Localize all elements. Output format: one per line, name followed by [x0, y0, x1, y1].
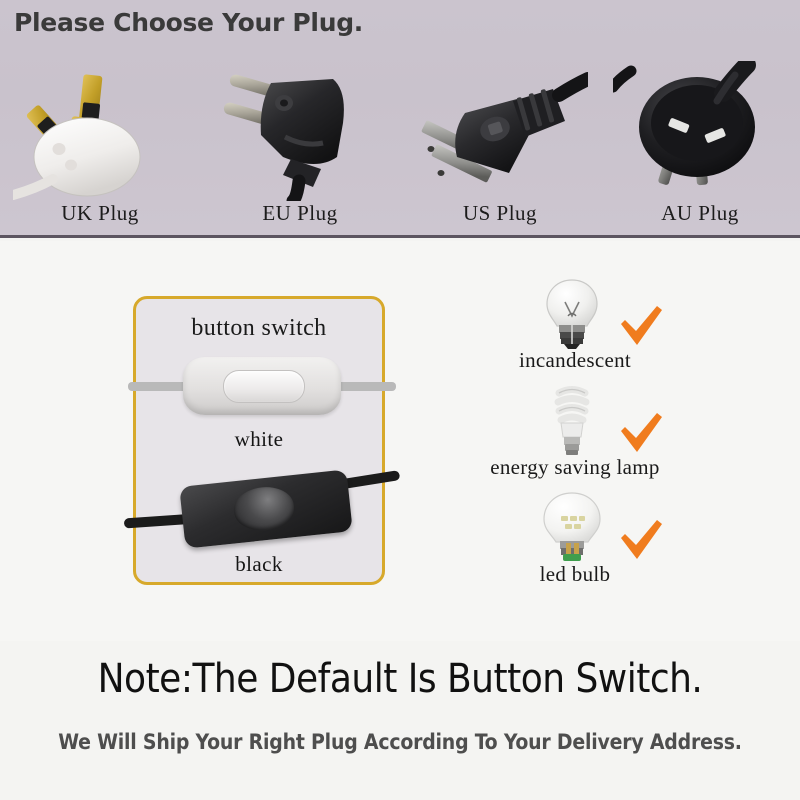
switch-option-label-black: black	[136, 552, 382, 577]
black-switch-button	[232, 484, 296, 533]
plug-option-uk[interactable]: UK Plug	[0, 52, 200, 238]
check-icon	[618, 304, 664, 348]
product-infographic: Please Choose Your Plug.	[0, 0, 800, 800]
shipping-note: We Will Ship Your Right Plug According T…	[0, 730, 800, 754]
plug-option-us[interactable]: US Plug	[400, 52, 600, 238]
us-plug-icon	[413, 61, 588, 201]
check-icon	[618, 518, 664, 562]
button-switch-title: button switch	[136, 315, 382, 342]
incandescent-bulb-icon	[535, 276, 609, 350]
cfl-spiral-bulb-icon	[535, 383, 609, 457]
plug-option-au[interactable]: AU Plug	[600, 52, 800, 238]
plug-selection-band: Please Choose Your Plug.	[0, 0, 800, 238]
plug-option-eu[interactable]: EU Plug	[200, 52, 400, 238]
bulb-item-incandescent: incandescent	[440, 276, 770, 383]
plug-label-uk: UK Plug	[61, 201, 139, 226]
white-switch-rocker	[223, 370, 305, 403]
led-bulb-icon	[535, 490, 609, 564]
plug-label-au: AU Plug	[661, 201, 739, 226]
default-switch-note: Note:The Default Is Button Switch.	[0, 656, 800, 702]
switch-option-label-white: white	[136, 427, 382, 452]
switch-and-bulb-section: button switch white black	[0, 241, 800, 641]
white-cord-left	[128, 382, 190, 391]
white-rocker-switch-icon	[128, 351, 396, 421]
plug-label-us: US Plug	[463, 201, 537, 226]
plug-label-eu: EU Plug	[262, 201, 337, 226]
au-plug-icon	[613, 61, 788, 201]
bulb-item-led: led bulb	[440, 490, 770, 597]
white-switch-body	[183, 357, 341, 415]
black-switch-body	[179, 469, 353, 548]
black-rocker-switch-icon	[124, 462, 400, 548]
white-cord-right	[334, 382, 396, 391]
compatible-bulbs-list: incandescent	[440, 276, 770, 616]
bulb-label-energy-saving: energy saving lamp	[440, 455, 710, 480]
eu-plug-icon	[213, 61, 388, 201]
bulb-label-incandescent: incandescent	[440, 348, 710, 373]
bulb-label-led: led bulb	[440, 562, 710, 587]
page-title: Please Choose Your Plug.	[14, 8, 363, 37]
check-icon	[618, 411, 664, 455]
button-switch-box[interactable]: button switch white black	[133, 296, 385, 585]
plug-options-row: UK Plug	[0, 52, 800, 238]
uk-plug-icon	[13, 61, 188, 201]
bulb-item-energy-saving: energy saving lamp	[440, 383, 770, 490]
